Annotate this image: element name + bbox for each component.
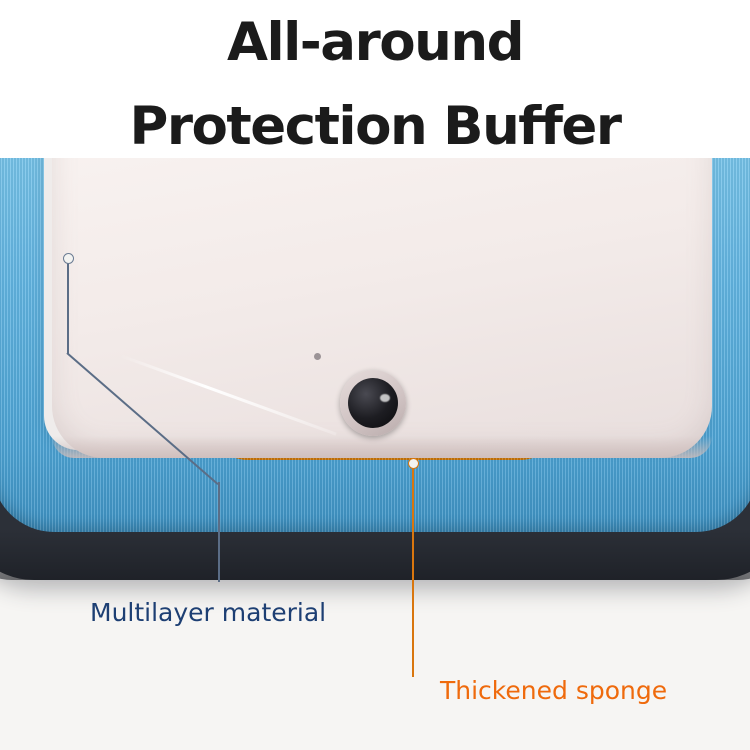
product-feature-image: All-around Protection Buffer Multilayer … xyxy=(0,0,750,750)
heading-block: All-around Protection Buffer xyxy=(0,0,750,158)
callout-label-sponge: Thickened sponge xyxy=(440,676,667,705)
heading-line-1: All-around xyxy=(0,12,750,73)
heading-line-2: Protection Buffer xyxy=(0,96,750,157)
rear-camera xyxy=(340,370,406,436)
lens-glint xyxy=(380,394,390,402)
tablet-bottom-edge xyxy=(52,436,712,458)
callout-leader-multilayer-vertical xyxy=(67,262,69,354)
callout-leader-sponge xyxy=(412,467,414,677)
microphone-dot xyxy=(314,353,321,360)
callout-anchor-multilayer xyxy=(63,253,74,264)
callout-leader-multilayer-down xyxy=(218,482,220,582)
callout-anchor-sponge xyxy=(408,458,419,469)
callout-label-multilayer: Multilayer material xyxy=(90,598,326,627)
product-photo: Multilayer material Thickened sponge xyxy=(0,158,750,750)
camera-lens xyxy=(348,378,398,428)
